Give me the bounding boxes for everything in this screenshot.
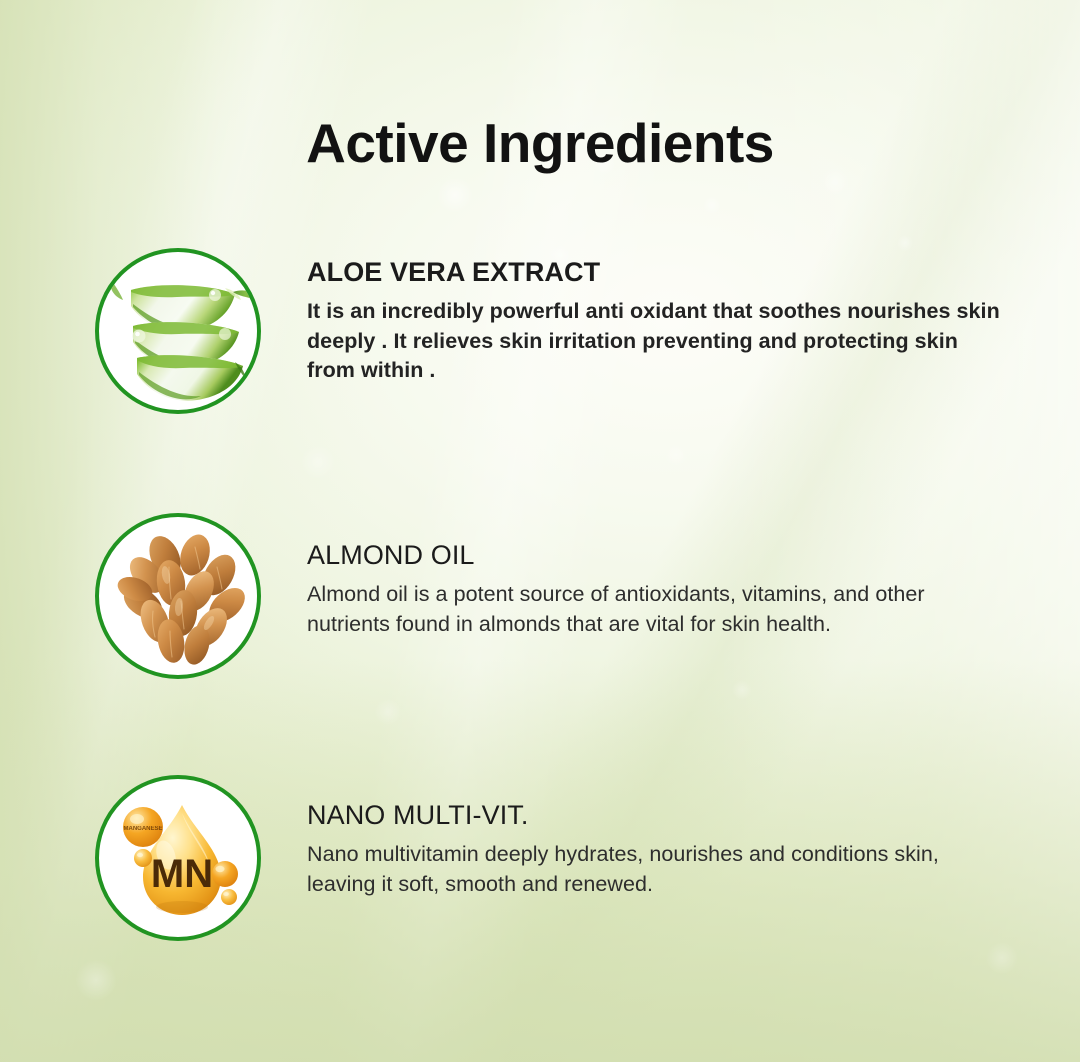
icon-circle-ring xyxy=(95,513,261,679)
sphere-microlabel: MANGANESE xyxy=(123,826,162,832)
ingredient-icon-wrap: MN MANGANESE xyxy=(95,775,261,941)
ingredient-row: ALOE VERA EXTRACT It is an incredibly po… xyxy=(0,248,1080,414)
icon-circle-ring: MN MANGANESE xyxy=(95,775,261,941)
ingredient-title: NANO MULTI-VIT. xyxy=(307,799,1002,831)
ingredient-row: ALMOND OIL Almond oil is a potent source… xyxy=(0,513,1080,679)
ingredient-description: It is an incredibly powerful anti oxidan… xyxy=(307,297,1002,385)
ingredient-description: Almond oil is a potent source of antioxi… xyxy=(307,580,1002,638)
ingredient-title: ALMOND OIL xyxy=(307,539,1002,571)
ingredient-text-col: ALMOND OIL Almond oil is a potent source… xyxy=(307,539,1080,639)
icon-circle-ring xyxy=(95,248,261,414)
ingredient-text-col: ALOE VERA EXTRACT It is an incredibly po… xyxy=(307,256,1080,385)
active-ingredients-panel: Active Ingredients xyxy=(0,0,1080,1062)
oil-droplet-mn-icon: MN MANGANESE xyxy=(99,779,257,937)
ingredient-title: ALOE VERA EXTRACT xyxy=(307,256,1002,288)
ingredient-row: MN MANGANESE xyxy=(0,775,1080,941)
almonds-icon xyxy=(99,517,257,675)
ingredient-description: Nano multivitamin deeply hydrates, nouri… xyxy=(307,840,1002,898)
page-title: Active Ingredients xyxy=(0,113,1080,175)
droplet-label: MN xyxy=(151,852,213,896)
ingredient-icon-wrap xyxy=(95,248,261,414)
ingredient-icon-wrap xyxy=(95,513,261,679)
aloe-vera-slices-icon xyxy=(99,252,257,410)
ingredient-text-col: NANO MULTI-VIT. Nano multivitamin deeply… xyxy=(307,799,1080,899)
